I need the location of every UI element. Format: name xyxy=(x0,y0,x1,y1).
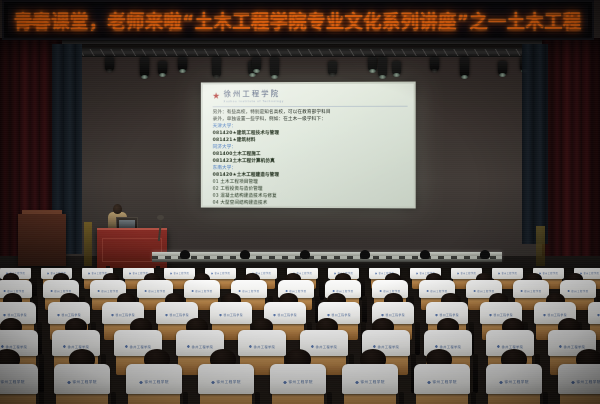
seat-headrest-logo: 徐州工程学院 xyxy=(539,272,558,275)
microphone-head xyxy=(157,215,164,220)
diamond-logo-icon xyxy=(50,290,53,293)
seat-headrest-logo: 徐州工程学院 xyxy=(473,289,494,293)
stage-light-icon xyxy=(140,57,149,77)
auditorium-seat: 徐州工程学院 xyxy=(414,364,470,394)
diamond-logo-icon xyxy=(57,314,60,317)
stage-light-icon xyxy=(252,57,261,71)
seat-armrest xyxy=(543,392,548,404)
diamond-logo-icon xyxy=(125,345,128,348)
diamond-logo-icon xyxy=(3,290,6,293)
seat-headrest-logo: 徐州工程学院 xyxy=(435,313,459,317)
diamond-logo-icon xyxy=(47,272,49,274)
seat-armrest xyxy=(183,392,188,404)
auditorium-seat: 徐州工程学院 xyxy=(0,364,38,394)
led-cursor-icon xyxy=(26,21,39,25)
presentation-slide: 徐州工程学院 Xuzhou Institute of Technology 另外… xyxy=(203,84,414,207)
diamond-logo-icon xyxy=(273,314,276,317)
seat-headrest-logo: 徐州工程学院 xyxy=(457,272,476,275)
diamond-logo-icon xyxy=(567,290,570,293)
diamond-logo-icon xyxy=(489,314,492,317)
auditorium-seat: 徐州工程学院 xyxy=(198,364,254,394)
seat-headrest-logo: 徐州工程学院 xyxy=(170,272,189,275)
auditorium-seat: 徐州工程学院 xyxy=(588,302,600,324)
diamond-logo-icon xyxy=(211,272,213,274)
seat-headrest-text: 徐州工程学院 xyxy=(101,289,118,293)
auditorium-seat: 徐州工程学院 xyxy=(184,280,220,298)
diamond-logo-icon xyxy=(139,381,143,385)
auditorium-seat: 徐州工程学院 xyxy=(560,280,596,298)
seat-headrest-text: 徐州工程学院 xyxy=(504,380,528,385)
seat-headrest-text: 徐州工程学院 xyxy=(116,313,136,317)
seat-headrest-text: 徐州工程学院 xyxy=(477,289,494,293)
seat-headrest-text: 徐州工程学院 xyxy=(174,272,190,275)
seat-armrest xyxy=(255,392,260,404)
diamond-logo-icon xyxy=(283,381,287,385)
footlight-fixture xyxy=(180,250,190,259)
diamond-logo-icon xyxy=(219,314,222,317)
seat-headrest-logo: 徐州工程学院 xyxy=(381,313,405,317)
stage-light-icon xyxy=(158,61,167,75)
seat-headrest-text: 徐州工程学院 xyxy=(524,289,541,293)
seat-headrest-text: 徐州工程学院 xyxy=(72,380,96,385)
seat-headrest-text: 徐州工程学院 xyxy=(386,313,406,317)
seat-headrest-logo: 徐州工程学院 xyxy=(499,380,529,385)
seat-headrest-logo: 徐州工程学院 xyxy=(211,272,230,275)
diamond-logo-icon xyxy=(571,381,575,385)
seat-headrest-text: 徐州工程学院 xyxy=(288,380,312,385)
stage-light-icon xyxy=(328,61,337,75)
seat-headrest-text: 徐州工程学院 xyxy=(215,272,231,275)
slide-divider xyxy=(213,106,408,108)
diamond-logo-icon xyxy=(473,290,476,293)
stage-light-icon xyxy=(212,57,221,77)
seat-headrest-text: 徐州工程学院 xyxy=(316,344,338,349)
seat-headrest-text: 徐州工程学院 xyxy=(571,289,588,293)
seat-headrest-logo: 徐州工程学院 xyxy=(283,380,313,385)
auditorium-seat: 徐州工程学院 xyxy=(486,364,542,394)
auditorium-seat: 徐州工程学院 xyxy=(492,268,523,279)
seat-headrest-logo: 徐州工程学院 xyxy=(191,289,212,293)
diamond-logo-icon xyxy=(427,381,431,385)
university-seal-icon xyxy=(213,92,220,99)
seat-headrest-text: 徐州工程学院 xyxy=(216,380,240,385)
stage-light-icon xyxy=(178,57,187,71)
seat-headrest-text: 徐州工程学院 xyxy=(254,344,276,349)
slide-university-name: 徐州工程学院 xyxy=(224,88,284,99)
seat-headrest-text: 徐州工程学院 xyxy=(548,313,568,317)
footlight-fixture xyxy=(240,250,250,259)
diamond-logo-icon xyxy=(373,345,376,348)
seat-headrest-logo: 徐州工程学院 xyxy=(144,289,165,293)
diamond-logo-icon xyxy=(520,290,523,293)
diamond-logo-icon xyxy=(375,272,377,274)
seat-headrest-text: 徐州工程学院 xyxy=(289,289,306,293)
diamond-logo-icon xyxy=(497,345,500,348)
seat-headrest-text: 徐州工程学院 xyxy=(430,289,447,293)
seat-headrest-text: 徐州工程学院 xyxy=(360,380,384,385)
seat-headrest-logo: 徐州工程学院 xyxy=(111,313,135,317)
stage-light-icon xyxy=(498,61,507,75)
diamond-logo-icon xyxy=(1,345,4,348)
seat-headrest-logo: 徐州工程学院 xyxy=(219,313,243,317)
speaker-head xyxy=(113,204,122,214)
projection-screen: 徐州工程学院 Xuzhou Institute of Technology 另外… xyxy=(201,82,416,209)
stage-light-icon xyxy=(378,57,387,77)
stage-column-right xyxy=(536,226,545,266)
diamond-logo-icon xyxy=(543,314,546,317)
seat-headrest-logo: 徐州工程学院 xyxy=(211,380,241,385)
diamond-logo-icon xyxy=(67,381,71,385)
seat-headrest-logo: 徐州工程学院 xyxy=(543,313,567,317)
diamond-logo-icon xyxy=(238,290,241,293)
seat-armrest xyxy=(399,392,404,404)
seat-headrest-text: 徐州工程学院 xyxy=(432,380,456,385)
seat-headrest-logo: 徐州工程学院 xyxy=(139,380,169,385)
diamond-logo-icon xyxy=(416,272,418,274)
seat-headrest-logo: 徐州工程学院 xyxy=(427,380,457,385)
diamond-logo-icon xyxy=(381,314,384,317)
seat-armrest xyxy=(39,392,44,404)
diamond-logo-icon xyxy=(191,290,194,293)
diamond-logo-icon xyxy=(111,314,114,317)
auditorium-seat: 徐州工程学院 xyxy=(126,364,182,394)
diamond-logo-icon xyxy=(249,345,252,348)
auditorium-seat: 徐州工程学院 xyxy=(238,330,286,356)
footlight-fixture xyxy=(480,250,490,259)
stage-footlight-strip xyxy=(152,252,502,262)
seat-headrest-text: 徐州工程学院 xyxy=(224,313,244,317)
seat-headrest-logo: 徐州工程学院 xyxy=(497,344,524,349)
seat-headrest-logo: 徐州工程学院 xyxy=(426,289,447,293)
seat-headrest-logo: 徐州工程学院 xyxy=(125,344,152,349)
truss-upper-rail xyxy=(0,40,600,44)
auditorium-seat: 徐州工程学院 xyxy=(513,280,549,298)
auditorium-seat: 徐州工程学院 xyxy=(164,268,195,279)
seat-headrest-text: 徐州工程学院 xyxy=(440,313,460,317)
diamond-logo-icon xyxy=(498,272,500,274)
stage-light-icon xyxy=(368,57,377,71)
slide-header: 徐州工程学院 Xuzhou Institute of Technology xyxy=(213,88,408,104)
auditorium-seat: 徐州工程学院 xyxy=(270,364,326,394)
seat-headrest-text: 徐州工程学院 xyxy=(278,313,298,317)
footlight-fixture xyxy=(420,250,430,259)
diamond-logo-icon xyxy=(499,381,503,385)
seat-armrest xyxy=(111,392,116,404)
lectern-podium xyxy=(97,228,167,268)
stage-light-icon xyxy=(430,57,439,71)
footlight-fixture xyxy=(360,250,370,259)
seat-headrest-logo: 徐州工程学院 xyxy=(567,289,588,293)
seat-headrest-text: 徐州工程学院 xyxy=(8,313,28,317)
seat-headrest-text: 徐州工程学院 xyxy=(564,344,586,349)
stage-column-left xyxy=(84,222,92,266)
diamond-logo-icon xyxy=(144,290,147,293)
seat-headrest-logo: 徐州工程学院 xyxy=(355,380,385,385)
seat-headrest-logo: 徐州工程学院 xyxy=(311,344,338,349)
seat-headrest-text: 徐州工程学院 xyxy=(378,344,400,349)
diamond-logo-icon xyxy=(435,345,438,348)
seat-headrest-text: 徐州工程学院 xyxy=(543,272,559,275)
slide-line: 04 大型空间结构建造技术 xyxy=(213,200,408,206)
seat-armrest xyxy=(415,322,420,355)
seat-headrest-text: 徐州工程学院 xyxy=(192,344,214,349)
seat-headrest-logo: 徐州工程学院 xyxy=(520,289,541,293)
seat-headrest-text: 徐州工程学院 xyxy=(332,313,352,317)
seat-headrest-logo: 徐州工程学院 xyxy=(273,313,297,317)
slide-body: 另外：有些高校，特别是知名高校，可以在教育部学科目录外，单独设置一些学科，例如：… xyxy=(213,110,408,207)
stage-drape-right xyxy=(522,44,548,244)
seat-headrest-logo: 徐州工程学院 xyxy=(3,313,27,317)
diamond-logo-icon xyxy=(559,345,562,348)
seat-headrest-text: 徐州工程学院 xyxy=(170,313,190,317)
diamond-logo-icon xyxy=(129,272,131,274)
stage-side-cabinet xyxy=(18,214,66,266)
seat-headrest-logo: 徐州工程学院 xyxy=(63,344,90,349)
diamond-logo-icon xyxy=(457,272,459,274)
diamond-logo-icon xyxy=(211,381,215,385)
slide-university-name-en: Xuzhou Institute of Technology xyxy=(224,100,284,103)
diamond-logo-icon xyxy=(165,314,168,317)
seat-headrest-logo: 徐州工程学院 xyxy=(165,313,189,317)
seat-headrest-text: 徐州工程学院 xyxy=(494,313,514,317)
diamond-logo-icon xyxy=(285,290,288,293)
seat-headrest-logo: 徐州工程学院 xyxy=(97,289,118,293)
diamond-logo-icon xyxy=(3,314,6,317)
seat-headrest-text: 徐州工程学院 xyxy=(144,380,168,385)
diamond-logo-icon xyxy=(379,290,382,293)
seat-headrest-logo: 徐州工程学院 xyxy=(373,344,400,349)
diamond-logo-icon xyxy=(426,290,429,293)
seat-armrest xyxy=(471,392,476,404)
slide-line: 081421★建筑材料 xyxy=(213,138,408,145)
footlight-fixture xyxy=(300,250,310,259)
seat-headrest-logo: 徐州工程学院 xyxy=(57,313,81,317)
diamond-logo-icon xyxy=(187,345,190,348)
led-banner-text: 青春课堂，老师来啦“土木工程学院专业文化系列讲座”之一土木工程 xyxy=(14,7,582,34)
auditorium-seat: 徐州工程学院 xyxy=(558,364,600,394)
seat-headrest-text: 徐州工程学院 xyxy=(440,344,462,349)
seat-headrest-logo: 徐州工程学院 xyxy=(238,289,259,293)
seat-headrest-text: 徐州工程学院 xyxy=(576,380,600,385)
auditorium-seat: 徐州工程学院 xyxy=(210,302,252,324)
stage-light-icon xyxy=(270,57,279,77)
led-banner-panel: 青春课堂，老师来啦“土木工程学院专业文化系列讲座”之一土木工程 xyxy=(8,5,588,35)
seat-armrest xyxy=(327,392,332,404)
diamond-logo-icon xyxy=(88,272,90,274)
diamond-logo-icon xyxy=(435,314,438,317)
seat-headrest-logo: 徐州工程学院 xyxy=(498,272,517,275)
seat-headrest-logo: 徐州工程学院 xyxy=(571,380,600,385)
seat-headrest-logo: 徐州工程学院 xyxy=(0,380,25,385)
seat-headrest-text: 徐州工程学院 xyxy=(242,289,259,293)
diamond-logo-icon xyxy=(63,345,66,348)
diamond-logo-icon xyxy=(334,272,336,274)
auditorium-seat: 徐州工程学院 xyxy=(54,364,110,394)
seat-headrest-text: 徐州工程学院 xyxy=(130,344,152,349)
diamond-logo-icon xyxy=(97,290,100,293)
diamond-logo-icon xyxy=(170,272,172,274)
seat-armrest xyxy=(39,354,44,393)
seat-headrest-logo: 徐州工程学院 xyxy=(67,380,97,385)
diamond-logo-icon xyxy=(355,381,359,385)
led-banner: 青春课堂，老师来啦“土木工程学院专业文化系列讲座”之一土木工程 xyxy=(2,0,594,40)
seat-headrest-text: 徐州工程学院 xyxy=(62,313,82,317)
seat-headrest-text: 徐州工程学院 xyxy=(0,380,24,385)
seat-headrest-logo: 徐州工程学院 xyxy=(489,313,513,317)
truss-lattice xyxy=(0,49,600,56)
stage-light-icon xyxy=(460,57,469,77)
diamond-logo-icon xyxy=(311,345,314,348)
auditorium-photo: 徐州工程学院 Xuzhou Institute of Technology 另外… xyxy=(0,0,600,404)
auditorium-seat: 徐州工程学院 xyxy=(342,364,398,394)
seat-headrest-text: 徐州工程学院 xyxy=(461,272,477,275)
stage-light-icon xyxy=(392,61,401,75)
seat-headrest-text: 徐州工程学院 xyxy=(195,289,212,293)
audience-seating: 徐州工程学院徐州工程学院徐州工程学院徐州工程学院徐州工程学院徐州工程学院徐州工程… xyxy=(0,268,600,404)
diamond-logo-icon xyxy=(332,290,335,293)
seat-headrest-text: 徐州工程学院 xyxy=(584,272,600,275)
seat-headrest-text: 徐州工程学院 xyxy=(502,272,518,275)
seat-headrest-logo: 徐州工程学院 xyxy=(559,344,586,349)
seat-headrest-logo: 徐州工程学院 xyxy=(580,272,599,275)
stage-light-icon xyxy=(105,57,114,71)
seat-armrest xyxy=(473,354,478,393)
seat-headrest-text: 徐州工程学院 xyxy=(148,289,165,293)
seat-headrest-logo: 徐州工程学院 xyxy=(327,313,351,317)
seat-headrest-logo: 徐州工程学院 xyxy=(187,344,214,349)
diamond-logo-icon xyxy=(327,314,330,317)
seat-armrest xyxy=(362,296,367,323)
seat-headrest-logo: 徐州工程学院 xyxy=(249,344,276,349)
